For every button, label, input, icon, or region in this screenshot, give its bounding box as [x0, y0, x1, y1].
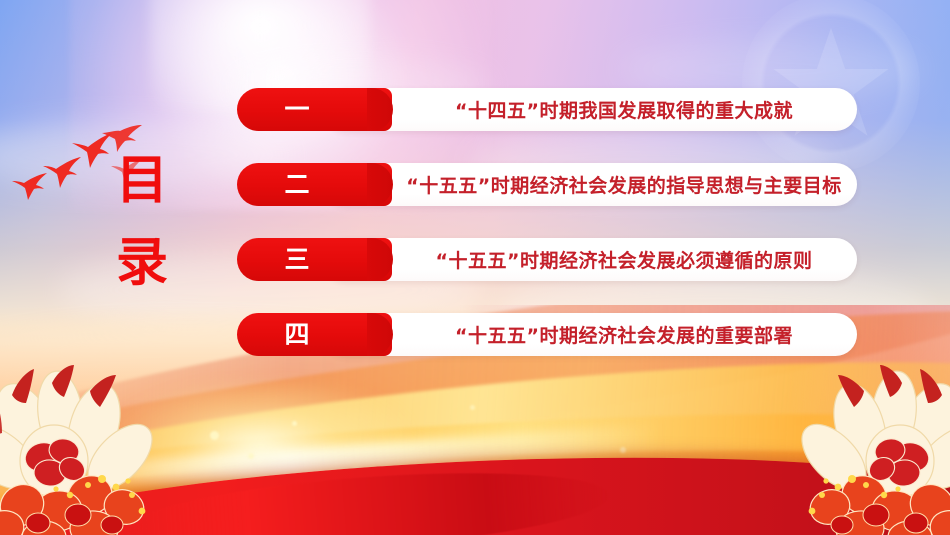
page-title: 目 录 [112, 155, 172, 289]
page-title-char-2: 录 [112, 237, 172, 289]
toc-item-2-label: “十五五”时期经济社会发展的指导思想与主要目标 [325, 163, 857, 206]
toc-item-4-label: “十五五”时期经济社会发展的重要部署 [325, 313, 857, 356]
presentation-slide: 目 录 一 “十四五”时期我国发展取得的重大成就 二 “十五五”时期经济社会发展… [0, 0, 950, 535]
sparkle [470, 405, 475, 410]
toc-item-1-label: “十四五”时期我国发展取得的重大成就 [325, 88, 857, 131]
peony-flower-left [0, 365, 232, 535]
toc-item-3-label: “十五五”时期经济社会发展必须遵循的原则 [325, 238, 857, 281]
toc-item-1[interactable]: 一 “十四五”时期我国发展取得的重大成就 [237, 88, 857, 131]
table-of-contents: 一 “十四五”时期我国发展取得的重大成就 二 “十五五”时期经济社会发展的指导思… [237, 88, 857, 356]
toc-item-3[interactable]: 三 “十五五”时期经济社会发展必须遵循的原则 [237, 238, 857, 281]
sparkle [248, 453, 254, 459]
peony-flower-right [722, 365, 950, 535]
sparkle [620, 447, 626, 453]
page-title-char-1: 目 [112, 155, 172, 207]
sparkle [292, 421, 297, 426]
toc-item-4[interactable]: 四 “十五五”时期经济社会发展的重要部署 [237, 313, 857, 356]
toc-item-2[interactable]: 二 “十五五”时期经济社会发展的指导思想与主要目标 [237, 163, 857, 206]
